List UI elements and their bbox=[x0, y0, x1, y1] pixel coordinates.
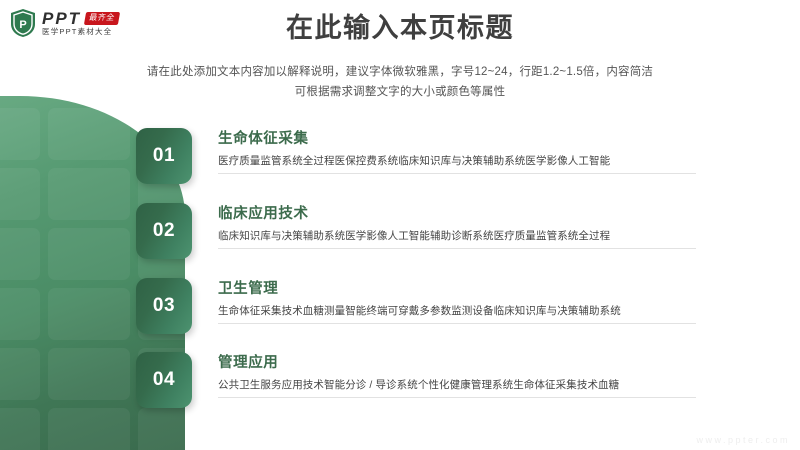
footer-watermark: www.ppter.com bbox=[696, 435, 790, 445]
item-heading: 管理应用 bbox=[218, 354, 696, 373]
item-heading: 临床应用技术 bbox=[218, 205, 696, 224]
item-heading: 卫生管理 bbox=[218, 280, 696, 299]
item-number-badge: 03 bbox=[136, 278, 192, 334]
item-number-badge: 01 bbox=[136, 128, 192, 184]
item-number-badge: 02 bbox=[136, 203, 192, 259]
item-text-block: 生命体征采集 医疗质量监管系统全过程医保控费系统临床知识库与决策辅助系统医学影像… bbox=[218, 128, 696, 174]
item-number-badge: 04 bbox=[136, 352, 192, 408]
list-item[interactable]: 02 临床应用技术 临床知识库与决策辅助系统医学影像人工智能辅助诊断系统医疗质量… bbox=[136, 203, 696, 265]
item-description: 医疗质量监管系统全过程医保控费系统临床知识库与决策辅助系统医学影像人工智能 bbox=[218, 154, 696, 174]
list-item[interactable]: 03 卫生管理 生命体征采集技术血糖测量智能终端可穿戴多参数监测设备临床知识库与… bbox=[136, 278, 696, 340]
item-text-block: 临床应用技术 临床知识库与决策辅助系统医学影像人工智能辅助诊断系统医疗质量监管系… bbox=[218, 203, 696, 249]
list-item[interactable]: 04 管理应用 公共卫生服务应用技术智能分诊 / 导诊系统个性化健康管理系统生命… bbox=[136, 352, 696, 414]
item-description: 临床知识库与决策辅助系统医学影像人工智能辅助诊断系统医疗质量监管系统全过程 bbox=[218, 229, 696, 249]
list-item[interactable]: 01 生命体征采集 医疗质量监管系统全过程医保控费系统临床知识库与决策辅助系统医… bbox=[136, 128, 696, 190]
item-description: 公共卫生服务应用技术智能分诊 / 导诊系统个性化健康管理系统生命体征采集技术血糖 bbox=[218, 378, 696, 398]
item-heading: 生命体征采集 bbox=[218, 130, 696, 149]
item-text-block: 卫生管理 生命体征采集技术血糖测量智能终端可穿戴多参数监测设备临床知识库与决策辅… bbox=[218, 278, 696, 324]
item-text-block: 管理应用 公共卫生服务应用技术智能分诊 / 导诊系统个性化健康管理系统生命体征采… bbox=[218, 352, 696, 398]
content-list: 01 生命体征采集 医疗质量监管系统全过程医保控费系统临床知识库与决策辅助系统医… bbox=[0, 0, 800, 450]
item-description: 生命体征采集技术血糖测量智能终端可穿戴多参数监测设备临床知识库与决策辅助系统 bbox=[218, 304, 696, 324]
